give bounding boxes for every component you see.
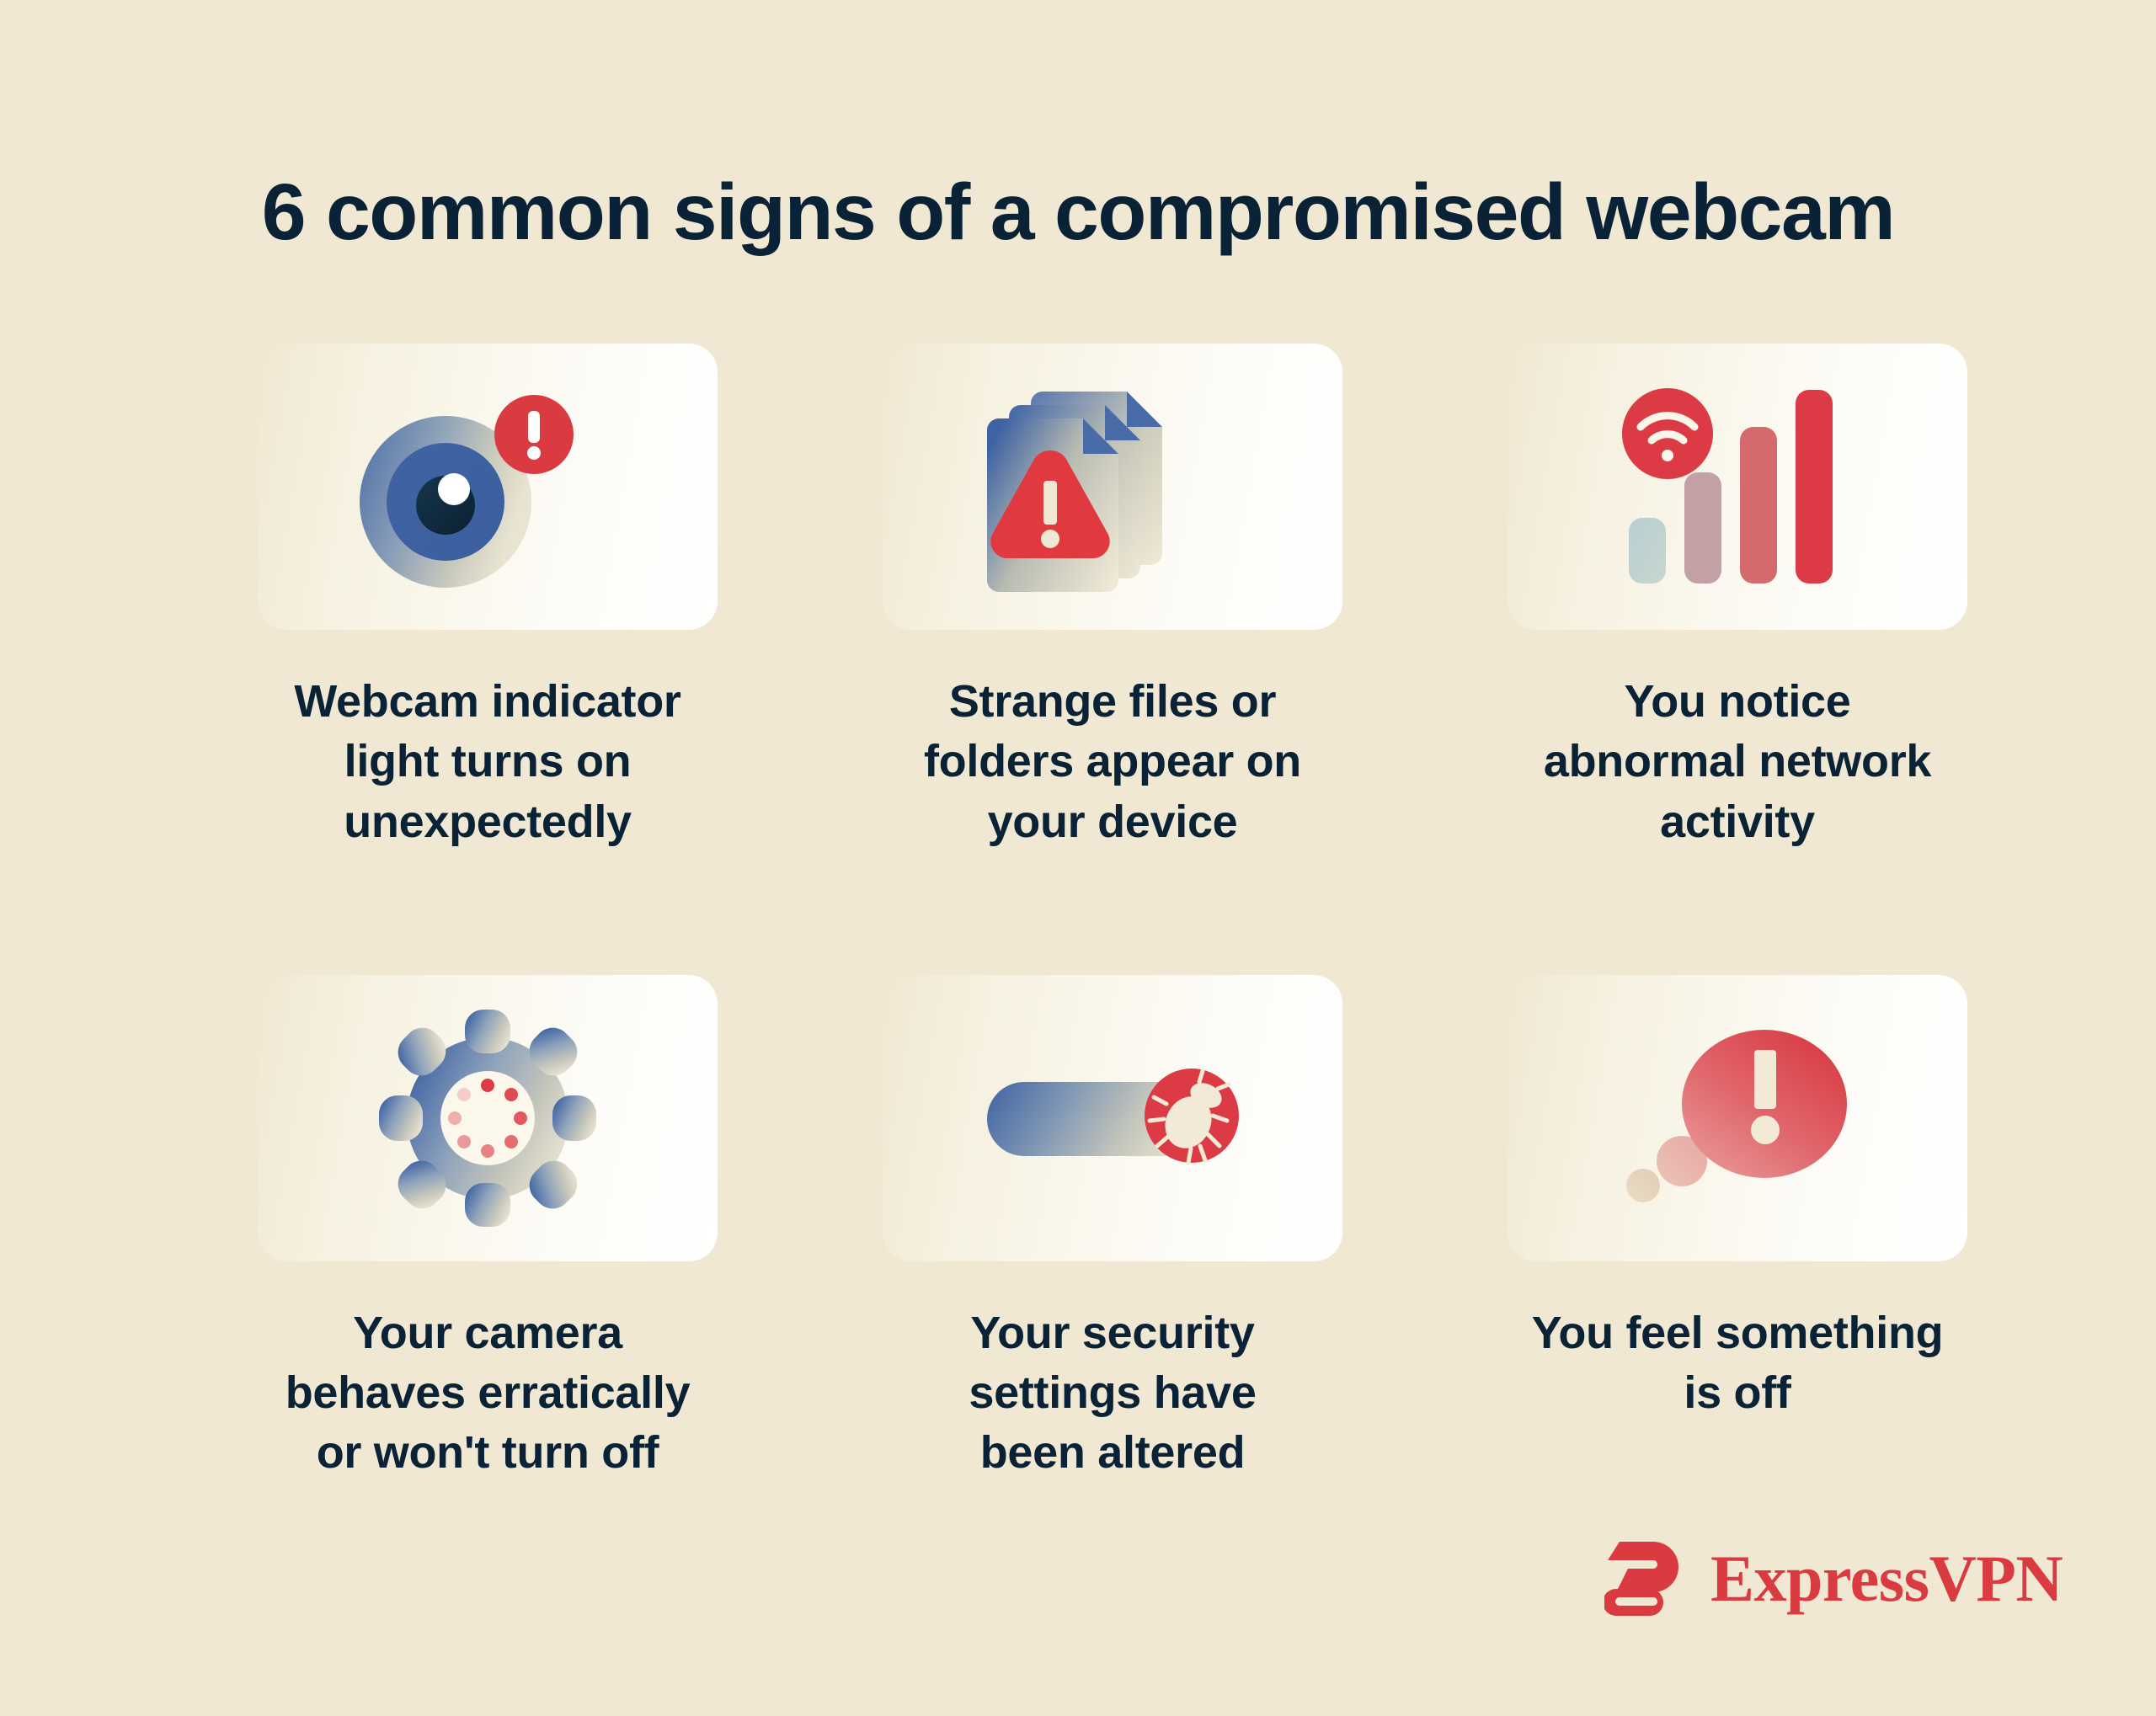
caption-line: unexpectedly (252, 792, 723, 852)
card-caption: Webcam indicator light turns on unexpect… (252, 672, 723, 852)
page-title: 6 common signs of a compromised webcam (0, 168, 2156, 257)
caption-line: Your camera (252, 1303, 723, 1363)
card-art-panel (1508, 344, 1967, 630)
card-art-panel (258, 975, 718, 1261)
gear-spinner-icon (374, 1005, 601, 1232)
card-caption: Your security settings have been altered (877, 1303, 1348, 1484)
caption-line: Webcam indicator (252, 672, 723, 732)
card-caption: You notice abnormal network activity (1502, 672, 1973, 852)
caption-line: behaves erratically (252, 1363, 723, 1423)
sign-card-1: Webcam indicator light turns on unexpect… (258, 344, 718, 852)
caption-line: Strange files or (877, 672, 1348, 732)
caption-line: settings have (877, 1363, 1348, 1423)
network-signal-wifi-icon (1615, 381, 1860, 592)
expressvpn-logo-icon (1604, 1538, 1689, 1619)
toggle-switch-bug-icon (982, 1063, 1243, 1173)
thought-bubble-alert-icon (1611, 1013, 1864, 1223)
sign-card-4: Your camera behaves erratically or won't… (258, 975, 718, 1484)
card-caption: Strange files or folders appear on your … (877, 672, 1348, 852)
documents-warning-icon (974, 373, 1251, 600)
caption-line: been altered (877, 1423, 1348, 1483)
caption-line: your device (877, 792, 1348, 852)
expressvpn-logo: ExpressVPN (1604, 1538, 2063, 1619)
webcam-eye-alert-icon (319, 377, 656, 596)
caption-line: or won't turn off (252, 1423, 723, 1483)
card-caption: Your camera behaves erratically or won't… (252, 1303, 723, 1484)
signs-grid: Webcam indicator light turns on unexpect… (258, 344, 1952, 1484)
caption-line: is off (1502, 1363, 1973, 1423)
expressvpn-wordmark: ExpressVPN (1710, 1546, 2063, 1612)
sign-card-2: Strange files or folders appear on your … (883, 344, 1342, 852)
card-art-panel (258, 344, 718, 630)
card-art-panel (1508, 975, 1967, 1261)
caption-line: folders appear on (877, 732, 1348, 791)
caption-line: activity (1502, 792, 1973, 852)
card-art-panel (883, 344, 1342, 630)
caption-line: Your security (877, 1303, 1348, 1363)
caption-line: abnormal network (1502, 732, 1973, 791)
sign-card-5: Your security settings have been altered (883, 975, 1342, 1484)
card-caption: You feel something is off (1502, 1303, 1973, 1424)
sign-card-3: You notice abnormal network activity (1508, 344, 1967, 852)
sign-card-6: You feel something is off (1508, 975, 1967, 1484)
caption-line: You feel something (1502, 1303, 1973, 1363)
infographic-page: 6 common signs of a compromised webcam (0, 0, 2156, 1716)
caption-line: You notice (1502, 672, 1973, 732)
caption-line: light turns on (252, 732, 723, 791)
card-art-panel (883, 975, 1342, 1261)
